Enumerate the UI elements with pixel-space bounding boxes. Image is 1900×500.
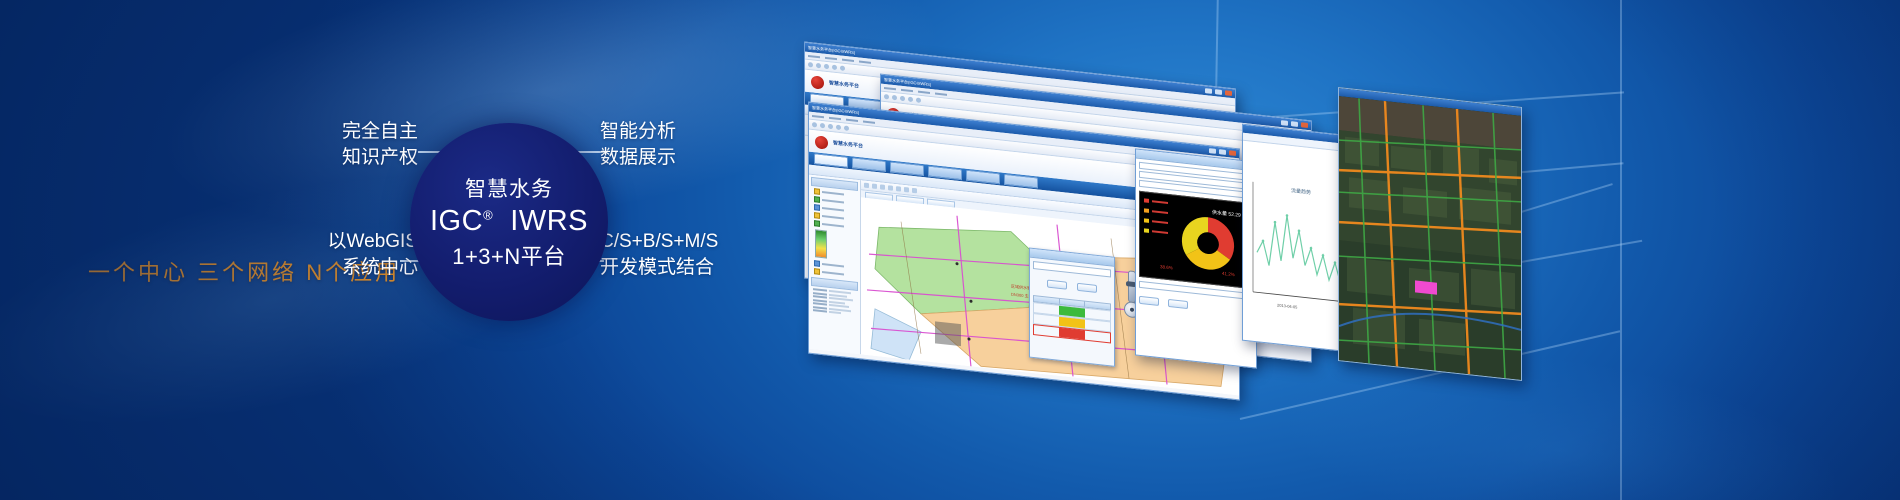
registered-mark-icon: ®: [483, 207, 493, 222]
feature-top-left-line2: 知识产权: [298, 145, 418, 171]
feature-top-left: 完全自主 知识产权: [298, 119, 418, 170]
feature-bottom-left-line1: 以WebGIS: [280, 229, 418, 255]
hero-banner: 完全自主 知识产权 以WebGIS 系统中心 智能分析 数据展示 C/S+B/S…: [0, 0, 1900, 500]
feature-bottom-left: 以WebGIS 系统中心: [280, 229, 418, 280]
feature-top-right: 智能分析 数据展示: [600, 119, 676, 170]
badge-product-code: IGC® IWRS: [430, 206, 588, 236]
badge-igc: IGC: [430, 205, 483, 237]
badge-product-name: 智慧水务: [465, 173, 553, 203]
feature-bottom-right: C/S+B/S+M/S 开发模式结合: [600, 229, 718, 280]
feature-bottom-right-line2: 开发模式结合: [600, 255, 718, 281]
feature-top-right-line2: 数据展示: [600, 145, 676, 171]
feature-top-right-line1: 智能分析: [600, 119, 676, 145]
product-badge-circle: 智慧水务 IGC® IWRS 1+3+N平台: [410, 123, 608, 321]
feature-bottom-right-line1: C/S+B/S+M/S: [600, 229, 718, 255]
feature-bottom-left-line2: 系统中心: [280, 255, 418, 281]
feature-top-left-line1: 完全自主: [298, 119, 418, 145]
badge-iwrs: IWRS: [510, 205, 588, 237]
badge-platform: 1+3+N平台: [452, 239, 566, 271]
